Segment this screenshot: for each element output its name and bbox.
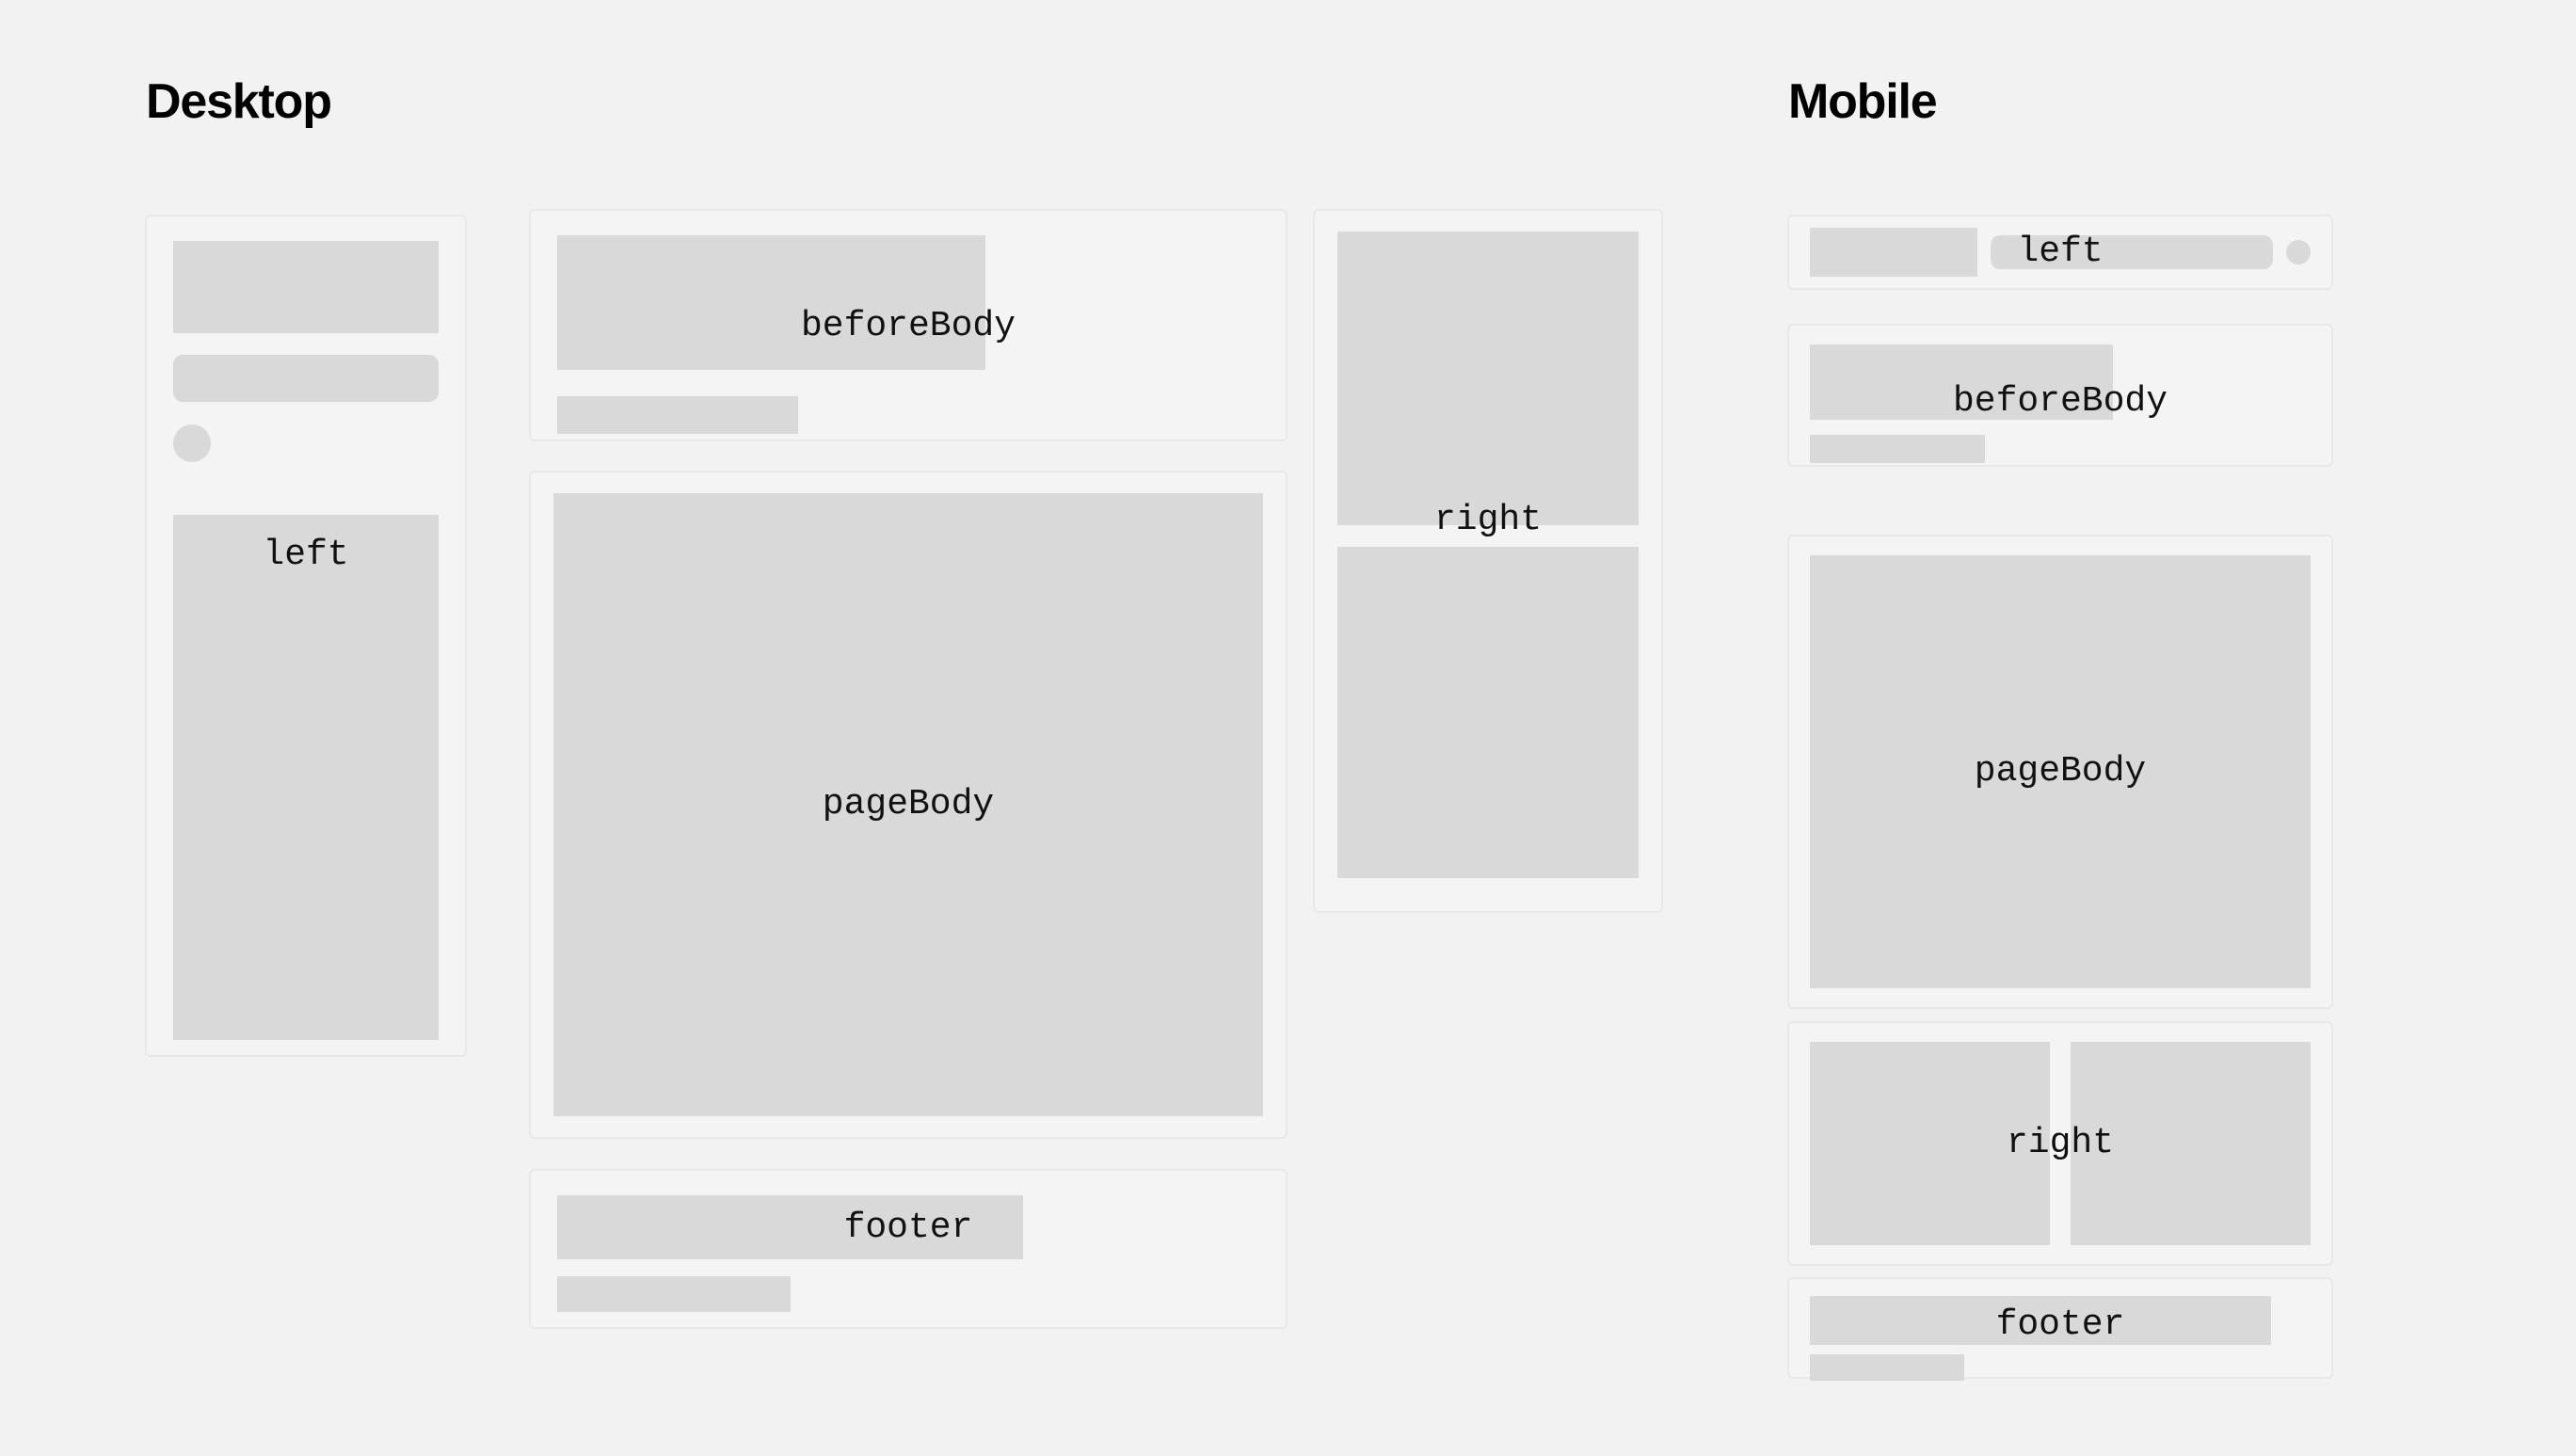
desktop-page-body-region-panel[interactable]: pageBody — [529, 471, 1288, 1139]
desktop-page-body-placeholder-fill — [553, 493, 1263, 1116]
desktop-left-placeholder-dot-icon — [173, 424, 211, 462]
desktop-right-region-panel[interactable]: right — [1313, 209, 1663, 913]
mobile-page-body-region-panel[interactable]: pageBody — [1787, 535, 2333, 1009]
desktop-footer-placeholder-large — [557, 1195, 1023, 1259]
mobile-footer-placeholder-large — [1810, 1296, 2271, 1345]
desktop-section-title: Desktop — [146, 77, 331, 126]
mobile-before-body-region-panel[interactable]: beforeBody — [1787, 324, 2333, 467]
desktop-before-body-placeholder-small — [557, 396, 798, 434]
desktop-footer-placeholder-small — [557, 1276, 791, 1312]
mobile-before-body-placeholder-small — [1810, 435, 1985, 463]
wireframe-canvas: Desktop left beforeBody pageBody footer … — [0, 0, 2576, 1456]
mobile-right-placeholder-right-column — [2071, 1042, 2311, 1245]
desktop-left-placeholder-bar — [173, 355, 439, 402]
mobile-left-placeholder-block — [1810, 228, 1977, 277]
desktop-left-placeholder-tall-block: left — [173, 515, 439, 1040]
desktop-footer-region-panel[interactable]: footer — [529, 1169, 1288, 1329]
mobile-footer-region-panel[interactable]: footer — [1787, 1277, 2333, 1379]
mobile-left-placeholder-dot-icon — [2286, 240, 2311, 264]
mobile-left-region-panel[interactable]: left — [1787, 215, 2333, 290]
mobile-section-title: Mobile — [1788, 77, 1936, 126]
desktop-before-body-placeholder-large — [557, 235, 985, 370]
desktop-right-placeholder-bottom — [1337, 547, 1639, 878]
mobile-page-body-placeholder-fill — [1810, 555, 2311, 988]
mobile-right-placeholder-left-column — [1810, 1042, 2050, 1245]
mobile-right-region-panel[interactable]: right — [1787, 1021, 2333, 1266]
desktop-right-placeholder-top — [1337, 232, 1639, 525]
mobile-before-body-placeholder-large — [1810, 344, 2113, 420]
desktop-left-region-label: left — [173, 537, 439, 573]
mobile-left-placeholder-bar — [1991, 235, 2273, 269]
desktop-before-body-region-panel[interactable]: beforeBody — [529, 209, 1288, 441]
desktop-left-region-panel[interactable]: left — [145, 215, 467, 1057]
desktop-left-placeholder-block — [173, 241, 439, 333]
mobile-footer-placeholder-small — [1810, 1354, 1964, 1381]
